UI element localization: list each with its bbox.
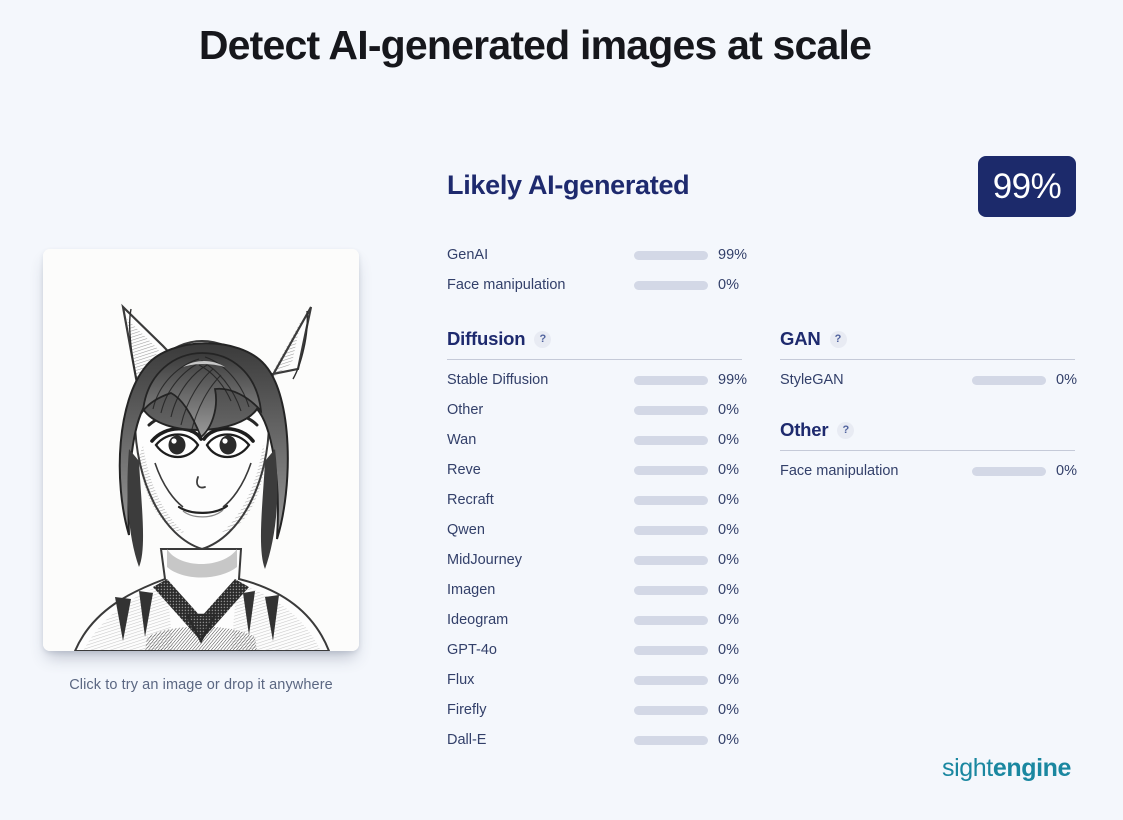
metric-row: Firefly 0% — [447, 695, 742, 725]
metric-label: Imagen — [447, 582, 495, 598]
metric-row: Imagen 0% — [447, 575, 742, 605]
metric-value: 0% — [718, 672, 739, 688]
section-title: GAN — [780, 328, 821, 350]
metric-bar-track — [634, 251, 708, 260]
section-title: Other — [780, 419, 828, 441]
metric-value: 0% — [718, 732, 739, 748]
metric-value: 0% — [718, 277, 739, 293]
metric-row: Ideogram 0% — [447, 605, 742, 635]
metric-label: MidJourney — [447, 552, 522, 568]
metric-bar-track — [634, 406, 708, 415]
section-other: Other ? Face manipulation 0% — [780, 419, 1075, 486]
metric-label: Recraft — [447, 492, 494, 508]
logo-light-text: sight — [942, 754, 993, 782]
section-divider — [447, 359, 742, 360]
metric-bar-track — [634, 281, 708, 290]
metric-bar-track — [634, 466, 708, 475]
metric-label: Face manipulation — [447, 277, 566, 293]
metric-value: 0% — [718, 492, 739, 508]
metric-label: Firefly — [447, 702, 486, 718]
metric-row: GPT-4o 0% — [447, 635, 742, 665]
metric-value: 99% — [718, 247, 747, 263]
metric-value: 0% — [718, 402, 739, 418]
metric-row: GenAI 99% — [447, 240, 742, 270]
metric-row: Reve 0% — [447, 455, 742, 485]
gan-other-column: GAN ? StyleGAN 0% Other ? — [780, 328, 1075, 755]
metric-row: MidJourney 0% — [447, 545, 742, 575]
metric-bar-track — [634, 736, 708, 745]
metric-label: Other — [447, 402, 483, 418]
verdict-score-badge: 99% — [978, 156, 1076, 217]
page-title: Detect AI-generated images at scale — [0, 22, 1070, 69]
section-header: Other ? — [780, 419, 1075, 450]
metric-label: GenAI — [447, 247, 488, 263]
metric-row: Face manipulation 0% — [447, 270, 742, 300]
metric-value: 99% — [718, 372, 747, 388]
metric-bar-track — [634, 496, 708, 505]
metric-value: 0% — [718, 702, 739, 718]
metric-value: 0% — [718, 522, 739, 538]
metric-row: Qwen 0% — [447, 515, 742, 545]
upload-column: Click to try an image or drop it anywher… — [43, 249, 359, 693]
summary-metric-list: GenAI 99% Face manipulation 0% — [447, 240, 742, 300]
metric-row: Wan 0% — [447, 425, 742, 455]
section-divider — [780, 359, 1075, 360]
metric-bar-track — [634, 586, 708, 595]
help-icon[interactable]: ? — [837, 422, 854, 439]
metric-value: 0% — [718, 642, 739, 658]
diffusion-column: Diffusion ? Stable Diffusion 99% Other — [447, 328, 742, 755]
verdict-row: Likely AI-generated 99% — [447, 150, 1077, 230]
logo-bold-text: engine — [993, 754, 1071, 782]
metric-row: Other 0% — [447, 395, 742, 425]
metric-row: Recraft 0% — [447, 485, 742, 515]
metric-value: 0% — [1056, 372, 1077, 388]
metric-bar-track — [634, 526, 708, 535]
section-header: GAN ? — [780, 328, 1075, 359]
section-header: Diffusion ? — [447, 328, 742, 359]
metric-value: 0% — [718, 582, 739, 598]
metric-bar-track — [634, 436, 708, 445]
section-diffusion: Diffusion ? Stable Diffusion 99% Other — [447, 328, 742, 755]
metric-label: Face manipulation — [780, 463, 899, 479]
section-title: Diffusion — [447, 328, 525, 350]
metric-label: Stable Diffusion — [447, 372, 548, 388]
section-gan: GAN ? StyleGAN 0% — [780, 328, 1075, 395]
metric-label: Dall-E — [447, 732, 486, 748]
metric-bar-track — [634, 616, 708, 625]
metric-row: Stable Diffusion 99% — [447, 365, 742, 395]
metric-bar-track — [972, 467, 1046, 476]
metric-label: Ideogram — [447, 612, 508, 628]
metric-value: 0% — [718, 462, 739, 478]
metric-row: Dall-E 0% — [447, 725, 742, 755]
metric-bar-track — [634, 556, 708, 565]
upload-caption[interactable]: Click to try an image or drop it anywher… — [43, 677, 359, 693]
help-icon[interactable]: ? — [830, 331, 847, 348]
metric-bar-track — [634, 706, 708, 715]
uploaded-image-card[interactable] — [43, 249, 359, 651]
metric-label: GPT-4o — [447, 642, 497, 658]
metric-bar-track — [634, 676, 708, 685]
verdict-title: Likely AI-generated — [447, 170, 689, 201]
metric-label: StyleGAN — [780, 372, 844, 388]
metric-value: 0% — [1056, 463, 1077, 479]
metric-value: 0% — [718, 432, 739, 448]
metric-label: Flux — [447, 672, 474, 688]
help-icon[interactable]: ? — [534, 331, 551, 348]
metric-row: Face manipulation 0% — [780, 456, 1075, 486]
uploaded-image[interactable] — [43, 249, 359, 651]
metric-row: Flux 0% — [447, 665, 742, 695]
metric-label: Qwen — [447, 522, 485, 538]
sightengine-logo[interactable]: sightengine — [942, 754, 1071, 783]
metric-label: Wan — [447, 432, 476, 448]
metric-bar-track — [634, 646, 708, 655]
metric-value: 0% — [718, 552, 739, 568]
metric-row: StyleGAN 0% — [780, 365, 1075, 395]
metric-bar-track — [634, 376, 708, 385]
metric-value: 0% — [718, 612, 739, 628]
sections-columns: Diffusion ? Stable Diffusion 99% Other — [447, 328, 1077, 755]
results-panel: Likely AI-generated 99% GenAI 99% Face m… — [447, 150, 1077, 755]
metric-label: Reve — [447, 462, 481, 478]
section-divider — [780, 450, 1075, 451]
metric-bar-track — [972, 376, 1046, 385]
